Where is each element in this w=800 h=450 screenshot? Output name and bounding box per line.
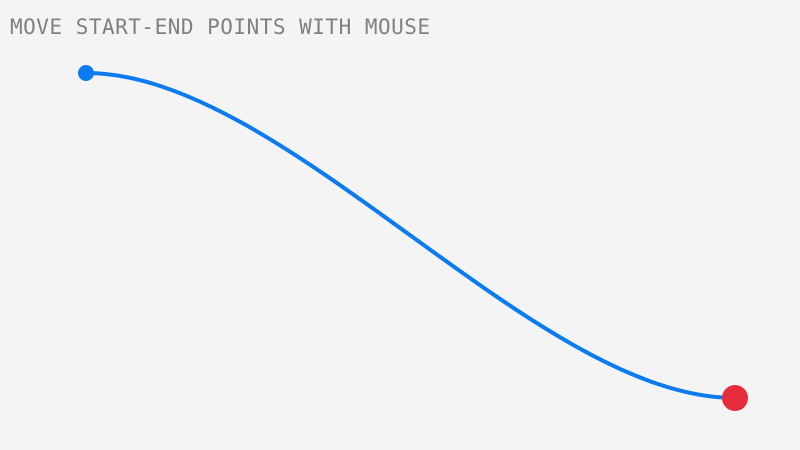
page-title: MOVE START-END POINTS WITH MOUSE [10, 14, 431, 40]
start-point-handle[interactable] [78, 65, 94, 81]
bezier-canvas[interactable] [0, 0, 800, 450]
bezier-editor-app: MOVE START-END POINTS WITH MOUSE [0, 0, 800, 450]
canvas-background [0, 0, 800, 450]
end-point-handle[interactable] [722, 385, 748, 411]
